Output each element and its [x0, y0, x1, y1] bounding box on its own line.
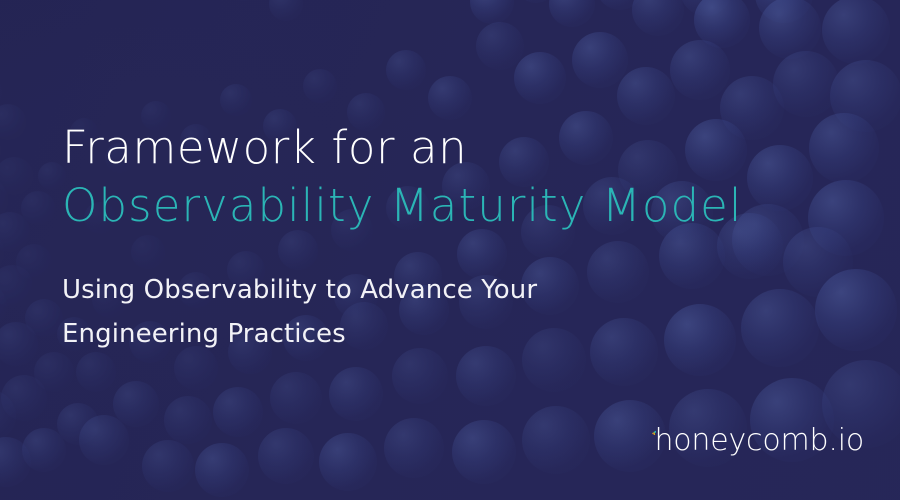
- background-bubble: [0, 322, 38, 366]
- subtitle-line-2: Engineering Practices: [62, 312, 622, 356]
- headline-line-1: Framework for an: [62, 125, 467, 170]
- subtitle: Using Observability to Advance Your Engi…: [62, 268, 622, 356]
- background-bubble: [0, 390, 16, 442]
- background-bubble: [21, 191, 55, 225]
- background-bubble: [0, 104, 26, 140]
- promo-banner: Framework for an Observability Maturity …: [0, 0, 900, 500]
- background-bubble: [0, 212, 30, 252]
- background-bubble: [16, 244, 52, 280]
- background-bubble: [0, 283, 7, 329]
- headline-line-2: Observability Maturity Model: [62, 183, 743, 228]
- background-bubble: [0, 178, 8, 222]
- background-bubble: [1, 375, 47, 421]
- background-bubble: [0, 157, 33, 195]
- background-bubble: [25, 299, 63, 337]
- background-bubble: [0, 127, 1, 173]
- background-bubble: [0, 72, 2, 112]
- honeycomb-logo: honeycomb.io: [652, 396, 864, 470]
- background-bubble: [22, 428, 66, 472]
- logo-wordmark: honeycomb.io: [654, 426, 864, 456]
- subtitle-line-1: Using Observability to Advance Your: [62, 268, 622, 312]
- background-bubble: [0, 265, 33, 307]
- background-bubble: [0, 228, 4, 276]
- background-bubble: [0, 337, 1, 387]
- background-bubble: [0, 437, 31, 487]
